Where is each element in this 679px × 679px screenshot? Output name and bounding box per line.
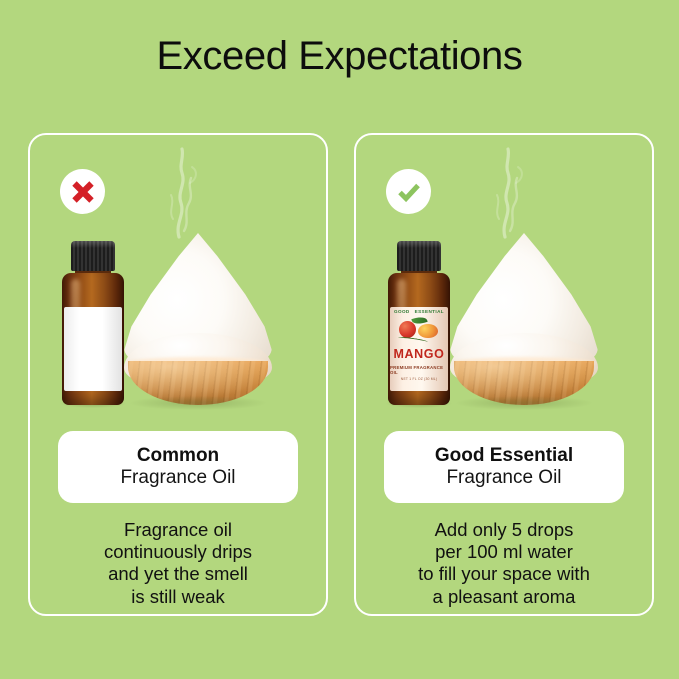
description-line: a pleasant aroma — [366, 586, 642, 608]
cross-icon — [70, 179, 96, 205]
page-title: Exceed Expectations — [0, 34, 679, 78]
diffuser-device — [450, 233, 598, 405]
diffuser-shadow — [130, 396, 266, 410]
caption-sub: Fragrance Oil — [120, 467, 235, 489]
caption-strong: Common — [137, 445, 219, 467]
bottle-cap — [397, 241, 441, 271]
bottle-label-mango: GOOD ESSENTIAL MANGO PREMIUM FRAGRANCE O… — [390, 307, 448, 391]
fragrance-bottle-mango: GOOD ESSENTIAL MANGO PREMIUM FRAGRANCE O… — [388, 241, 450, 405]
description-good-essential: Add only 5 drops per 100 ml water to fil… — [366, 519, 642, 608]
check-badge — [386, 169, 431, 214]
cherry-icon — [399, 321, 416, 338]
description-line: is still weak — [40, 586, 316, 608]
caption-card-common: Common Fragrance Oil — [58, 431, 298, 503]
description-line: Fragrance oil — [40, 519, 316, 541]
diffuser-shadow — [456, 396, 592, 410]
description-line: continuously drips — [40, 541, 316, 563]
caption-sub: Fragrance Oil — [446, 467, 561, 489]
steam-icon — [468, 143, 540, 239]
description-line: and yet the smell — [40, 563, 316, 585]
description-common: Fragrance oil continuously drips and yet… — [40, 519, 316, 608]
fruit-illustration — [390, 317, 448, 347]
diffuser-device — [124, 233, 272, 405]
comparison-panel-good-essential: GOOD ESSENTIAL MANGO PREMIUM FRAGRANCE O… — [354, 133, 654, 616]
caption-card-good-essential: Good Essential Fragrance Oil — [384, 431, 624, 503]
check-icon — [395, 178, 423, 206]
description-line: Add only 5 drops — [366, 519, 642, 541]
product-subtitle: PREMIUM FRAGRANCE OIL — [390, 365, 448, 375]
comparison-panel-common: Common Fragrance Oil Fragrance oil conti… — [28, 133, 328, 616]
net-volume: NET 1 FL OZ (30 ML) — [401, 377, 437, 381]
steam-icon — [142, 143, 214, 239]
bottle-cap — [71, 241, 115, 271]
flavor-name: MANGO — [394, 348, 445, 361]
caption-strong: Good Essential — [435, 445, 573, 467]
description-line: per 100 ml water — [366, 541, 642, 563]
description-line: to fill your space with — [366, 563, 642, 585]
cross-badge — [60, 169, 105, 214]
bottle-label-blank — [64, 307, 122, 391]
mango-icon — [418, 324, 438, 338]
fragrance-bottle-common — [62, 241, 124, 405]
